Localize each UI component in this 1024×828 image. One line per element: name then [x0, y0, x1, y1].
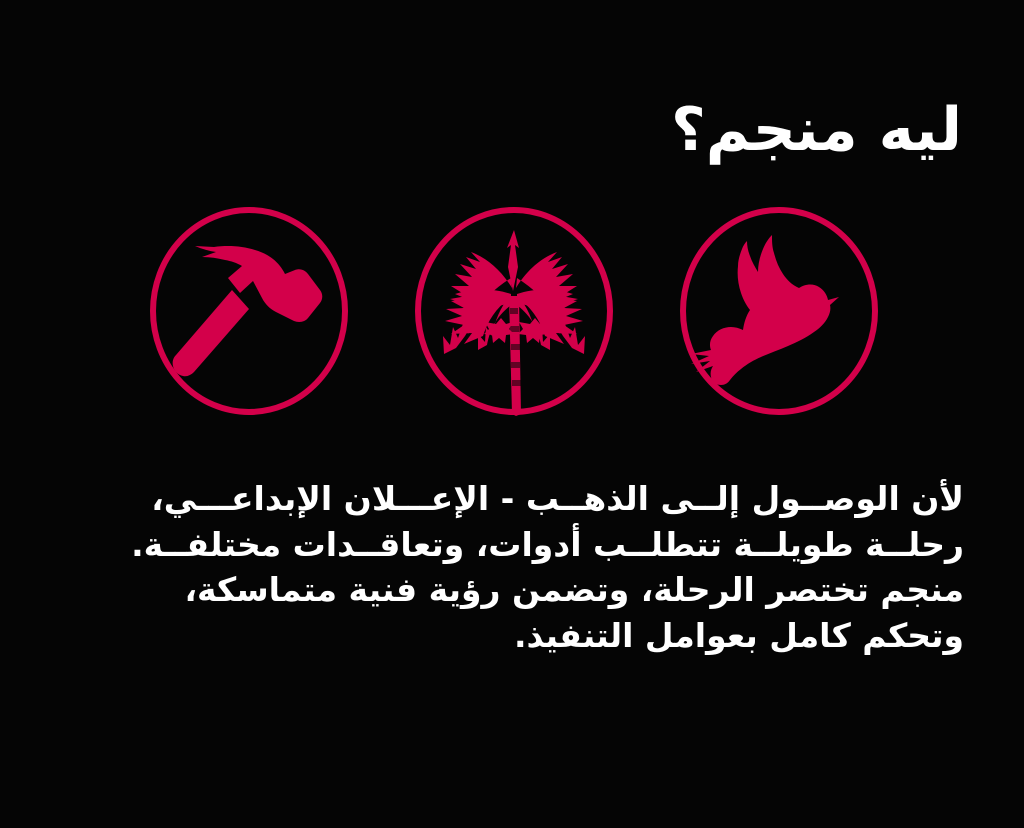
hammer-icon [148, 208, 350, 420]
body-line-4: وتحكم كامل بعوامل التنفيذ. [148, 613, 964, 659]
icon-row [148, 208, 880, 420]
body-line-2: رحلــة طويلــة تتطلــب أدوات، وتعاقــدات… [148, 522, 964, 568]
dove-icon [678, 208, 880, 420]
body-paragraph: لأن الوصــول إلــى الذهــب - الإعـــلان … [148, 476, 964, 658]
palm-tree-icon-badge [413, 208, 615, 420]
dove-glyph [691, 235, 839, 385]
hammer-icon-badge [148, 208, 350, 420]
body-line-1: لأن الوصــول إلــى الذهــب - الإعـــلان … [148, 476, 964, 522]
dove-icon-badge [678, 208, 880, 420]
palm-glyph [443, 230, 585, 416]
body-line-3: منجم تختصر الرحلة، وتضمن رؤية فنية متماس… [148, 567, 964, 613]
slide-root: ليه منجم؟ [0, 0, 1024, 828]
hammer-glyph [173, 246, 323, 376]
palm-tree-icon [413, 208, 615, 420]
page-title: ليه منجم؟ [62, 96, 962, 165]
hammer-ring-circle [153, 210, 345, 412]
